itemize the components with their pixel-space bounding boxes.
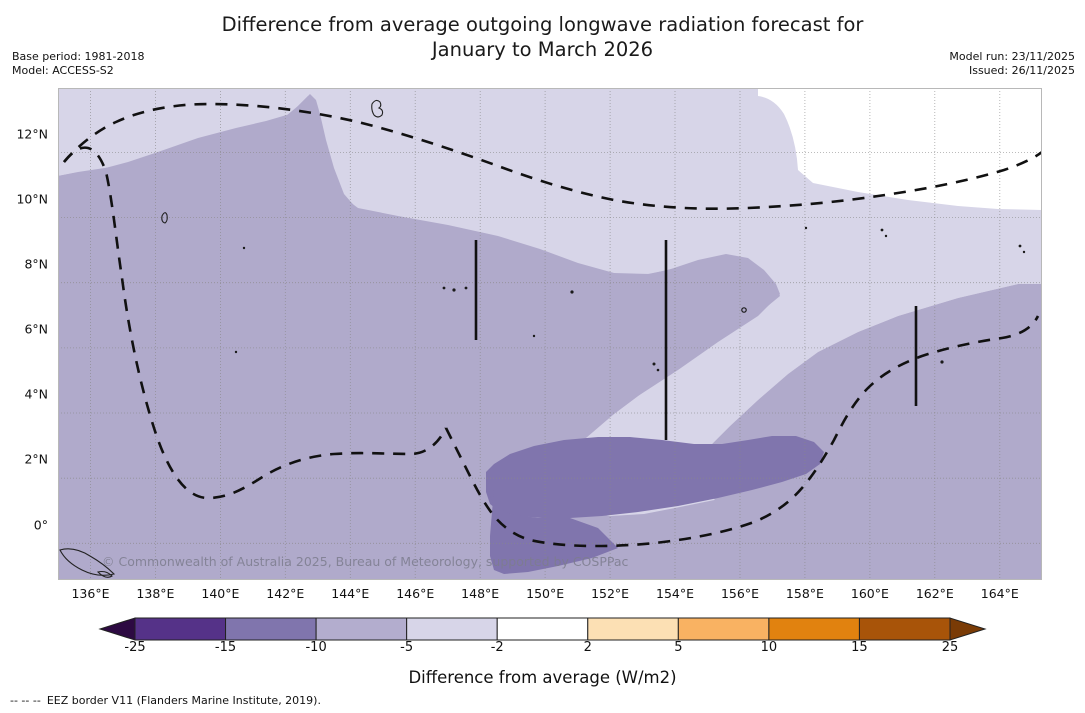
footer-legend: -- -- -- EEZ border V11 (Flanders Marine… xyxy=(10,694,321,707)
colorbar-axis-label: Difference from average (W/m2) xyxy=(0,668,1085,687)
colorbar-segment xyxy=(859,618,950,640)
y-tick-label: 2°N xyxy=(24,452,48,467)
eez-dash-swatch: -- -- -- xyxy=(10,694,41,707)
colorbar-segment xyxy=(678,618,769,640)
issued-text: Issued: 26/11/2025 xyxy=(949,64,1075,78)
colorbar-tick-labels: -25-15-10-5-225101525 xyxy=(0,640,1085,658)
colorbar-segment xyxy=(226,618,317,640)
footer-text: EEZ border V11 (Flanders Marine Institut… xyxy=(47,694,321,707)
x-tick-label: 164°E xyxy=(981,586,1019,601)
colorbar-segment xyxy=(135,618,226,640)
colorbar-segment xyxy=(316,618,407,640)
colorbar-segment xyxy=(407,618,498,640)
colorbar-extend-low xyxy=(100,618,135,640)
colorbar-tick: -25 xyxy=(124,640,145,655)
x-tick-label: 156°E xyxy=(721,586,759,601)
map-panel[interactable]: © Commonwealth of Australia 2025, Bureau… xyxy=(58,88,1042,580)
colorbar-tick: -15 xyxy=(215,640,236,655)
colorbar-tick: -10 xyxy=(305,640,326,655)
metadata-left: Base period: 1981-2018 Model: ACCESS-S2 xyxy=(12,50,144,78)
colorbar-tick: 10 xyxy=(761,640,778,655)
x-tick-label: 140°E xyxy=(201,586,239,601)
colorbar-extend-high xyxy=(950,618,985,640)
y-axis-tick-labels: 12°N10°N8°N6°N4°N2°N0° xyxy=(0,88,56,580)
metadata-right: Model run: 23/11/2025 Issued: 26/11/2025 xyxy=(949,50,1075,78)
x-tick-label: 136°E xyxy=(71,586,109,601)
y-tick-label: 8°N xyxy=(24,256,48,271)
figure-root: Difference from average outgoing longwav… xyxy=(0,0,1085,713)
page-title: Difference from average outgoing longwav… xyxy=(0,12,1085,62)
x-tick-label: 152°E xyxy=(591,586,629,601)
colorbar-segment xyxy=(497,618,588,640)
x-tick-label: 146°E xyxy=(396,586,434,601)
colorbar-tick: -2 xyxy=(491,640,504,655)
colorbar-tick: -5 xyxy=(400,640,413,655)
map-contour-plot: © Commonwealth of Australia 2025, Bureau… xyxy=(58,88,1042,580)
x-tick-label: 144°E xyxy=(331,586,369,601)
base-period-text: Base period: 1981-2018 xyxy=(12,50,144,64)
y-tick-label: 0° xyxy=(34,517,48,532)
x-tick-label: 162°E xyxy=(916,586,954,601)
x-tick-label: 150°E xyxy=(526,586,564,601)
x-tick-label: 138°E xyxy=(136,586,174,601)
model-run-text: Model run: 23/11/2025 xyxy=(949,50,1075,64)
x-tick-label: 148°E xyxy=(461,586,499,601)
colorbar-segment xyxy=(769,618,860,640)
colorbar-tick: 15 xyxy=(851,640,868,655)
colorbar-tick: 2 xyxy=(584,640,592,655)
map-watermark: © Commonwealth of Australia 2025, Bureau… xyxy=(102,554,628,569)
y-tick-label: 10°N xyxy=(16,191,48,206)
y-tick-label: 12°N xyxy=(16,126,48,141)
model-text: Model: ACCESS-S2 xyxy=(12,64,144,78)
colorbar-segment xyxy=(588,618,679,640)
x-tick-label: 158°E xyxy=(786,586,824,601)
y-tick-label: 6°N xyxy=(24,322,48,337)
x-tick-label: 160°E xyxy=(851,586,889,601)
x-tick-label: 142°E xyxy=(266,586,304,601)
x-axis-tick-labels: 136°E138°E140°E142°E144°E146°E148°E150°E… xyxy=(0,586,1085,606)
colorbar-tick: 5 xyxy=(674,640,682,655)
x-tick-label: 154°E xyxy=(656,586,694,601)
colorbar-tick: 25 xyxy=(942,640,959,655)
y-tick-label: 4°N xyxy=(24,387,48,402)
